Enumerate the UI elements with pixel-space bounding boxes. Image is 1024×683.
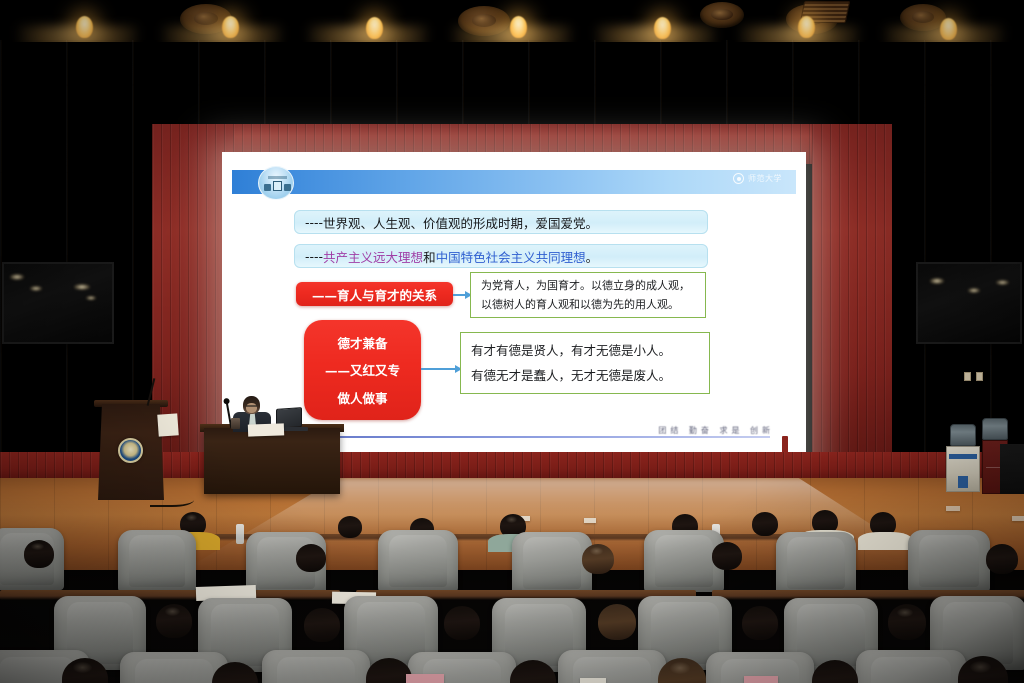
audience-head xyxy=(444,606,480,640)
green-note-2-line-1: 有才有德是贤人，有才无德是小人。 xyxy=(471,338,699,363)
side-chair xyxy=(1000,444,1024,494)
handout xyxy=(580,678,606,683)
auditorium-seat[interactable] xyxy=(908,530,990,592)
audience-head xyxy=(582,544,614,574)
bullet-2-part-blue: 中国特色社会主义共同理想 xyxy=(436,247,586,266)
auditorium-seat[interactable] xyxy=(776,532,856,594)
university-logo-text: 师范大学 xyxy=(748,173,782,184)
handout xyxy=(744,676,778,683)
speaker-table xyxy=(204,428,340,494)
slide-green-note-2: 有才有德是贤人，有才无德是小人。 有德无才是蠢人，无才无德是废人。 xyxy=(460,332,710,394)
auditorium-seat[interactable] xyxy=(512,532,592,594)
audience-head xyxy=(598,604,636,640)
ceiling-speaker-icon xyxy=(700,2,744,28)
audience-head xyxy=(712,542,742,570)
audience-head xyxy=(156,604,192,638)
table-papers xyxy=(248,423,284,436)
left-display-panel xyxy=(2,262,114,344)
wall-outlet xyxy=(964,372,971,381)
slide-bullet-2: ----共产主义远大理想和中国特色社会主义共同理想。 xyxy=(294,244,708,268)
cooler-band xyxy=(949,454,977,459)
bullet-1-text: 世界观、人生观、价值观的形成时期，爱国爱党。 xyxy=(323,213,598,232)
bullet-1-prefix: ---- xyxy=(305,215,323,230)
water-bottle xyxy=(236,524,244,544)
right-display-panel xyxy=(916,262,1022,344)
wall-trim xyxy=(0,40,1024,42)
slide-green-note-1: 为党育人，为国育才。以德立身的成人观， 以德树人的育人观和以德为先的用人观。 xyxy=(470,272,706,318)
seated-figures-badge-icon xyxy=(258,166,294,200)
slide-red-relation-label: ——育人与育才的关系 xyxy=(296,282,453,306)
red-block-line-3: 做人做事 xyxy=(337,388,387,407)
audience-area xyxy=(0,500,1024,683)
glasses-icon xyxy=(246,405,257,407)
green-note-1-line-2: 以德树人的育人观和以德为先的用人观。 xyxy=(481,295,695,314)
auditorium-seat[interactable] xyxy=(558,650,666,683)
slide-bullet-1: ----世界观、人生观、价值观的形成时期，爱国爱党。 xyxy=(294,210,708,234)
water-bottle xyxy=(982,418,1008,440)
arrow-right-icon xyxy=(421,368,461,370)
university-logo: 师范大学 xyxy=(733,173,782,184)
bullet-2-part-purple: 共产主义远大理想 xyxy=(323,247,423,266)
auditorium-seat[interactable] xyxy=(118,530,196,592)
handout xyxy=(406,674,444,683)
auditorium-seat[interactable] xyxy=(262,650,370,683)
wall-outlet xyxy=(976,372,983,381)
slide-red-block: 德才兼备 ——又红又专 做人做事 xyxy=(304,320,421,420)
auditorium-seat[interactable] xyxy=(856,650,966,683)
slide-footer-motto: 团结 勤奋 求是 创新 xyxy=(658,425,774,436)
bullet-2-prefix: ---- xyxy=(305,249,323,264)
audience-head xyxy=(752,512,778,536)
university-seal-icon xyxy=(733,173,744,184)
red-block-line-1: 德才兼备 xyxy=(337,333,387,352)
water-bottle xyxy=(950,424,976,446)
audience-shoulders xyxy=(858,532,912,550)
arrow-right-icon xyxy=(453,294,471,296)
red-block-line-2: ——又红又专 xyxy=(325,360,400,379)
audience-head xyxy=(24,540,54,568)
audience-head xyxy=(742,606,778,640)
wall-trim xyxy=(0,84,1024,86)
bullet-2-part-mid: 和 xyxy=(423,247,436,266)
audience-head xyxy=(338,516,362,538)
podium-papers xyxy=(157,413,178,436)
audience-head xyxy=(296,544,326,572)
stage-frame-right xyxy=(812,124,892,480)
audience-head xyxy=(304,608,340,642)
audience-head xyxy=(888,604,926,640)
bullet-2-suffix: 。 xyxy=(586,247,599,266)
green-note-1-line-1: 为党育人，为国育才。以德立身的成人观， xyxy=(481,276,695,295)
presentation-slide: 师范大学 ----世界观、人生观、价值观的形成时期，爱国爱党。 ----共产主义… xyxy=(232,162,796,458)
green-note-2-line-2: 有德无才是蠢人，无才无德是废人。 xyxy=(471,363,699,388)
auditorium-seat[interactable] xyxy=(378,530,458,592)
ceiling xyxy=(0,0,1024,42)
cooler-tap xyxy=(958,476,968,488)
row-desk xyxy=(0,590,340,600)
slide-header-bar xyxy=(232,170,796,194)
university-crest-icon xyxy=(118,438,143,463)
lecture-hall-scene: 师范大学 ----世界观、人生观、价值观的形成时期，爱国爱党。 ----共产主义… xyxy=(0,0,1024,683)
drinking-cup xyxy=(231,418,240,429)
audience-head xyxy=(986,544,1018,574)
